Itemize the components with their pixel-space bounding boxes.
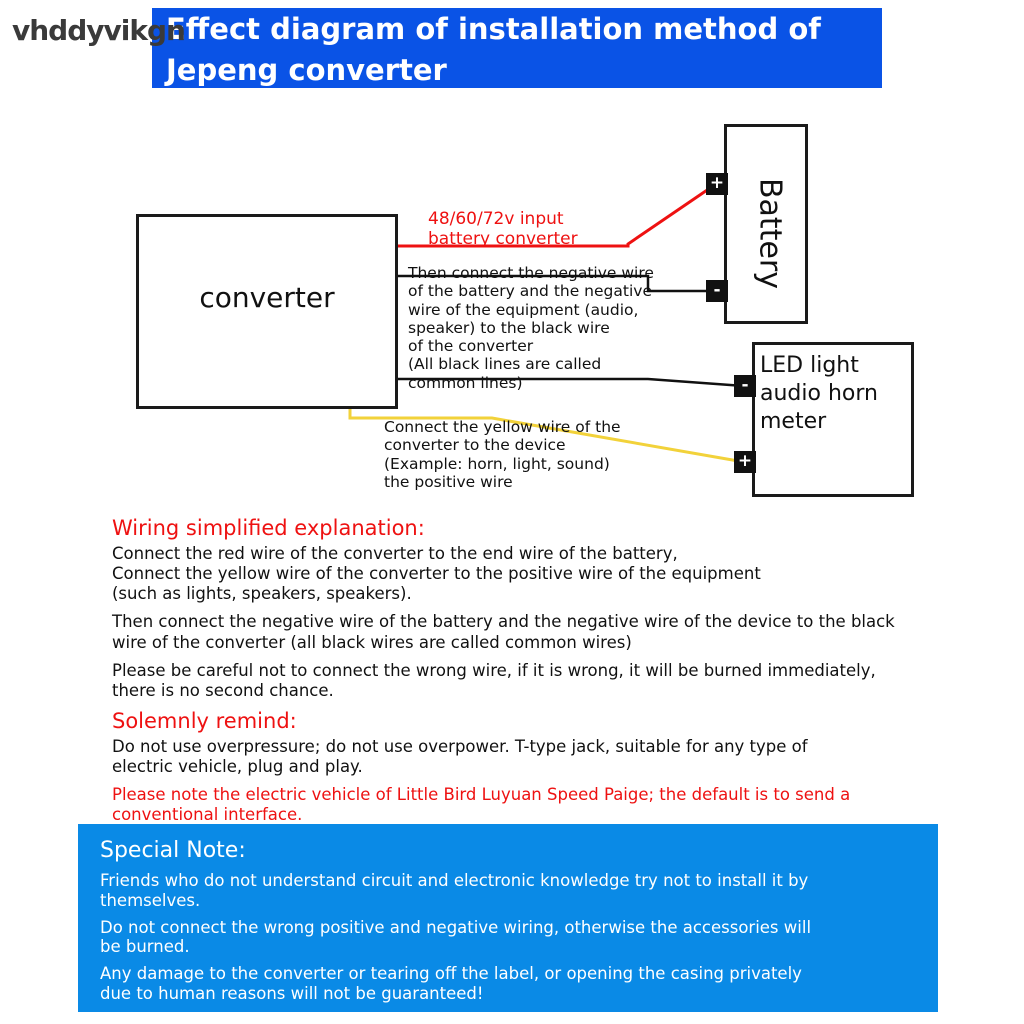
- special-note-para-2: Do not connect the wrong positive and ne…: [100, 918, 916, 958]
- watermark-text: vhddyvikgn: [12, 14, 185, 47]
- remind-title: Solemnly remind:: [112, 709, 992, 733]
- explanation-section: Wiring simplified explanation: Connect t…: [112, 516, 992, 825]
- special-note-para-3: Any damage to the converter or tearing o…: [100, 964, 916, 1004]
- led-load-label: LED light audio horn meter: [760, 352, 918, 436]
- special-note-para-1: Friends who do not understand circuit an…: [100, 871, 916, 911]
- battery-negative-terminal: -: [706, 280, 728, 302]
- load-negative-terminal: -: [734, 375, 756, 397]
- explanation-para-1: Connect the red wire of the converter to…: [112, 544, 992, 604]
- load-positive-terminal: +: [734, 451, 756, 473]
- wiring-diagram: converter Battery + - LED light audio ho…: [0, 96, 1024, 516]
- remind-para: Do not use overpressure; do not use over…: [112, 737, 992, 777]
- input-note: 48/60/72v input battery converter: [428, 209, 578, 250]
- explanation-para-3: Please be careful not to connect the wro…: [112, 661, 992, 701]
- battery-positive-terminal: +: [706, 173, 728, 195]
- explanation-title: Wiring simplified explanation:: [112, 516, 992, 540]
- black-wire-note: Then connect the negative wire of the ba…: [408, 264, 654, 392]
- diagram-page: Effect diagram of installation method of…: [0, 0, 1024, 1024]
- special-note-box: Special Note: Friends who do not underst…: [78, 824, 938, 1012]
- battery-label: Battery: [753, 164, 788, 304]
- yellow-wire-note: Connect the yellow wire of the converter…: [384, 418, 621, 491]
- remind-red-para: Please note the electric vehicle of Litt…: [112, 785, 992, 825]
- converter-label: converter: [136, 281, 398, 314]
- page-title: Effect diagram of installation method of…: [166, 9, 878, 91]
- explanation-para-2: Then connect the negative wire of the ba…: [112, 612, 992, 652]
- special-note-title: Special Note:: [100, 838, 916, 863]
